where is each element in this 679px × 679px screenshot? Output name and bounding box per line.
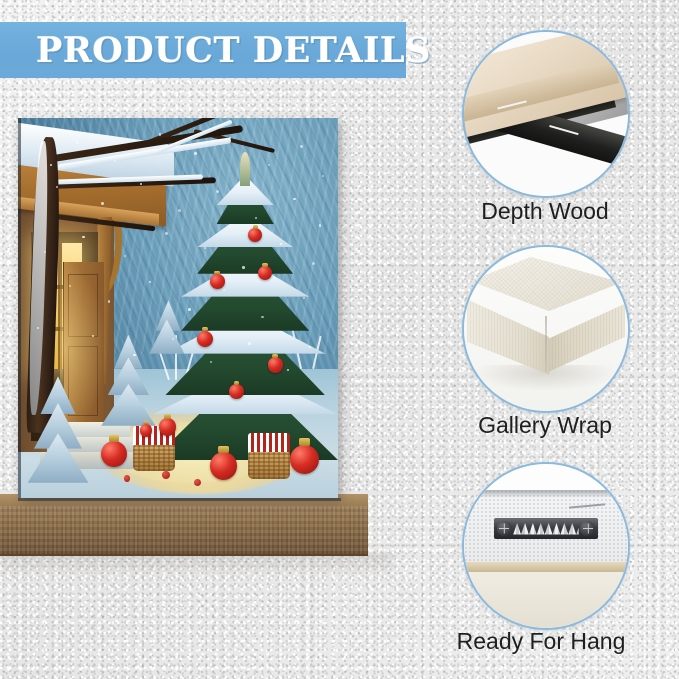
artwork-berry-3	[124, 475, 130, 481]
page-title: PRODUCT DETAILS	[36, 30, 431, 71]
wooden-shelf	[0, 494, 368, 554]
artwork-snowflake	[133, 354, 136, 357]
artwork-snowflake	[76, 141, 79, 144]
artwork-snowflake	[101, 202, 104, 205]
shelf-drop-shadow	[0, 554, 392, 576]
artwork-gift-ribbon-2	[248, 433, 290, 454]
artwork-ground-ornament-c	[290, 445, 319, 474]
artwork-snowflake	[159, 133, 162, 136]
artwork-snowflake	[322, 175, 324, 177]
artwork-snowflake	[248, 342, 251, 345]
artwork-gift-basket-2	[248, 452, 290, 479]
artwork-snowflake	[255, 217, 257, 219]
ready-hang-top-shadow	[464, 490, 628, 498]
artwork-snowflake	[223, 289, 225, 291]
ready-hang-lower-canvas	[464, 572, 628, 628]
artwork-snowflake	[178, 209, 181, 212]
artwork-snowflake	[303, 297, 305, 299]
artwork-tree-ornament-6	[229, 384, 244, 399]
product-details-banner: PRODUCT DETAILS	[0, 22, 406, 78]
detail-circle-depth-wood	[462, 30, 630, 198]
artwork-snowflake	[204, 247, 206, 249]
artwork-snowflake	[108, 300, 111, 303]
artwork-snowflake	[124, 255, 126, 257]
detail-label-ready-for-hang: Ready For Hang	[426, 628, 656, 655]
artwork-snowflake	[140, 183, 142, 185]
screw-icon-left	[497, 521, 512, 536]
artwork-snowflake	[261, 316, 264, 319]
artwork-xmas-tree-top	[240, 152, 250, 186]
artwork-gift-basket-1	[133, 445, 175, 472]
artwork-ground-ornament-b	[210, 452, 237, 479]
artwork-snowflake	[242, 266, 245, 269]
artwork-berry-1	[162, 471, 170, 479]
artwork-snowflake	[287, 369, 289, 371]
artwork-snowflake	[82, 236, 85, 239]
artwork-ground-ornament-d	[159, 418, 177, 435]
artwork-ground-ornament-e	[140, 424, 153, 437]
detail-circle-gallery-wrap	[462, 245, 630, 413]
artwork-snowflake	[50, 164, 52, 166]
artwork-snowflake	[300, 145, 303, 148]
artwork-snowflake	[92, 335, 94, 337]
artwork-snowflake	[114, 160, 116, 162]
artwork-tree-ornament-2	[210, 274, 225, 289]
ready-hang-wood-strip	[464, 562, 628, 572]
detail-label-depth-wood: Depth Wood	[430, 198, 660, 225]
artwork-snowflake	[44, 251, 46, 253]
artwork-tree-ornament-4	[197, 331, 213, 347]
artwork-snowflake	[188, 308, 191, 311]
artwork-ground-ornament-a	[101, 441, 127, 467]
detail-label-gallery-wrap: Gallery Wrap	[430, 412, 660, 439]
artwork-tree-ornament-5	[268, 357, 283, 372]
shelf-front-face	[0, 506, 368, 556]
gallery-wrap-corner-edge	[545, 316, 547, 372]
framed-canvas-artwork	[18, 118, 338, 498]
artwork-snowflake	[293, 198, 296, 201]
detail-circle-ready-for-hang	[462, 462, 630, 630]
